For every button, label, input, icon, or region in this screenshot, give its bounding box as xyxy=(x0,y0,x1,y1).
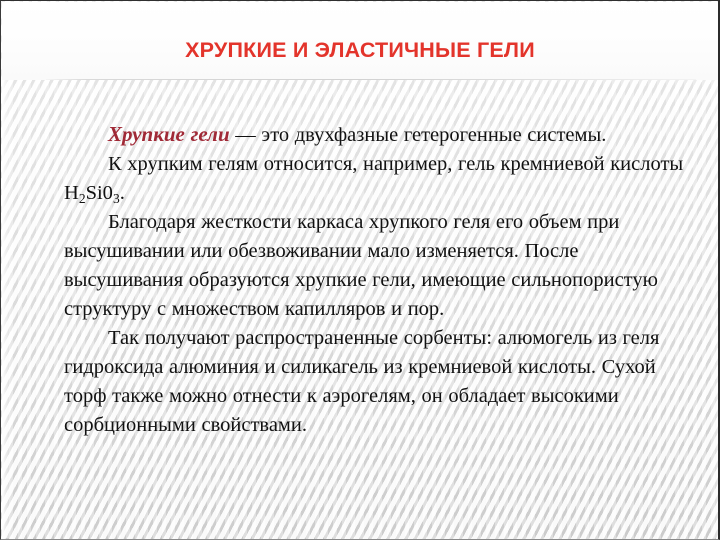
slide-title: ХРУПКИЕ И ЭЛАСТИЧНЫЕ ГЕЛИ xyxy=(0,38,720,63)
lead-term: Хрупкие гели xyxy=(108,122,230,146)
chemical-formula: H2Si03. xyxy=(64,182,125,204)
presentation-slide: ХРУПКИЕ И ЭЛАСТИЧНЫЕ ГЕЛИ Хрупкие гели —… xyxy=(0,0,720,540)
paragraph-1-text: — это двухфазные гетерогенные системы. xyxy=(230,124,607,146)
paragraph-3: Благодаря жесткости каркаса хрупкого гел… xyxy=(64,208,698,324)
slide-body: Хрупкие гели — это двухфазные гетерогенн… xyxy=(64,120,698,440)
left-edge-highlight xyxy=(2,2,12,538)
right-edge-highlight xyxy=(710,2,718,538)
paragraph-2: К хрупким гелям относится, например, гел… xyxy=(64,150,698,208)
paragraph-4: Так получают распространенные сорбенты: … xyxy=(64,324,698,440)
paragraph-1: Хрупкие гели — это двухфазные гетерогенн… xyxy=(64,120,698,150)
title-divider-rule xyxy=(46,79,696,80)
paragraph-2-text: К хрупким гелям относится, например, гел… xyxy=(108,153,683,175)
paragraph-4-text: Так получают распространенные сорбенты: … xyxy=(64,327,659,436)
paragraph-3-text: Благодаря жесткости каркаса хрупкого гел… xyxy=(64,211,658,320)
